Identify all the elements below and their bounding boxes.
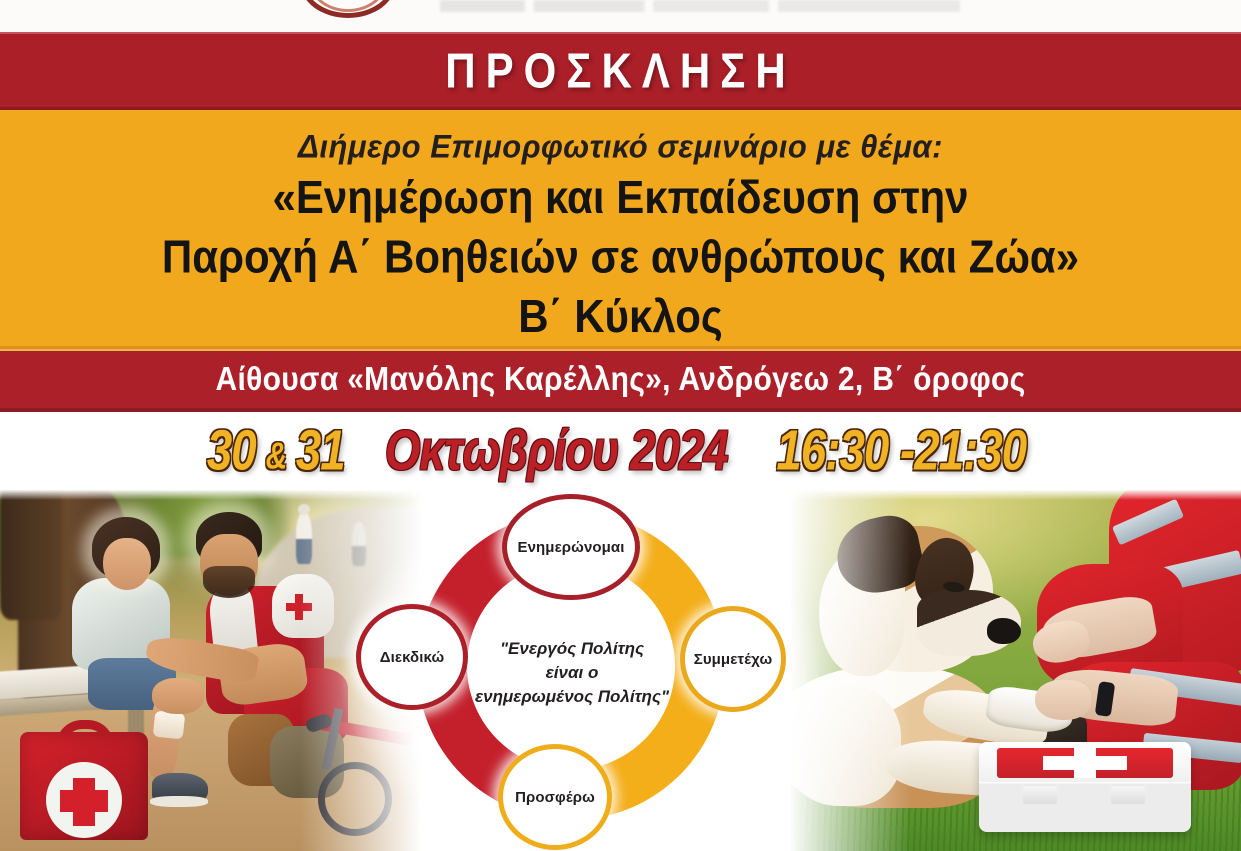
cycle-node-participate-label: Συμμετέχω <box>694 651 773 668</box>
photo-band: "Ενεργός Πολίτης είναι ο ενημερωμένος Πο… <box>0 490 1241 851</box>
seminar-subtitle: Διήμερο Επιμορφωτικό σεμινάριο με θέμα: <box>298 127 943 167</box>
seminar-title-line-1: «Ενημέρωση και Εκπαίδευση στην <box>162 168 1079 227</box>
logo-strip <box>0 0 1241 32</box>
medic-hand-lower-icon <box>1035 680 1091 720</box>
cycle-node-claim: Διεκδικώ <box>356 604 468 710</box>
background-walker-icon <box>296 512 312 564</box>
active-citizen-cycle-diagram: "Ενεργός Πολίτης είναι ο ενημερωμένος Πο… <box>356 494 786 851</box>
seminar-title-line-2: Παροχή Α΄ Βοηθειών σε ανθρώπους και Ζώα» <box>162 227 1079 286</box>
cycle-node-inform-label: Ενημερώνομαι <box>517 539 624 556</box>
title-banner: Διήμερο Επιμορφωτικό σεμινάριο με θέμα: … <box>0 110 1241 349</box>
volunteer-hand-icon <box>152 678 204 714</box>
cycle-node-offer: Προσφέρω <box>498 744 612 850</box>
photo-medic-treating-dog <box>791 490 1241 851</box>
cropped-organization-name-text <box>440 0 960 12</box>
invitation-label: ΠΡΟΣΚΛΗΣΗ <box>445 42 795 99</box>
date-day-30: 30 <box>207 419 256 484</box>
seminar-title: «Ενημέρωση και Εκπαίδευση στην Παροχή Α΄… <box>162 168 1079 345</box>
venue-address: Αίθουσα «Μανόλης Καρέλλης», Ανδρόγεω 2, … <box>216 361 1026 398</box>
tree-trunk-secondary-icon <box>0 490 62 620</box>
date-ampersand: & <box>266 435 287 478</box>
date-time-inline-group: 30 & 31 Οκτωβρίου 2024 16:30 -21:30 <box>205 423 1035 479</box>
first-aid-box-latch-icon <box>1023 786 1057 804</box>
child-sneaker-sole-icon <box>150 796 208 807</box>
date-time-row: 30 & 31 Οκτωβρίου 2024 16:30 -21:30 <box>0 412 1241 490</box>
cycle-node-participate: Συμμετέχω <box>680 606 786 712</box>
seminar-title-line-3: Β΄ Κύκλος <box>162 286 1079 345</box>
dog-nose-icon <box>987 618 1021 644</box>
cycle-node-claim-label: Διεκδικώ <box>380 649 445 666</box>
dog-chest-icon <box>791 686 901 806</box>
child-face-icon <box>103 538 151 590</box>
volunteer-beard-icon <box>203 566 255 598</box>
event-time-range: 16:30 -21:30 <box>777 419 1027 484</box>
background-walker-head-icon <box>298 504 310 515</box>
invitation-banner: ΠΡΟΣΚΛΗΣΗ <box>0 32 1241 110</box>
cycle-center-quote: "Ενεργός Πολίτης είναι ο ενημερωμένος Πο… <box>491 618 653 728</box>
red-cross-armband-icon <box>286 594 312 620</box>
child-knee-bandage-icon <box>153 711 186 740</box>
cycle-center-quote-line-2: είναι ο <box>546 661 599 685</box>
date-day-31: 31 <box>296 419 345 484</box>
date-month-year: Οκτωβρίου 2024 <box>385 419 728 484</box>
cycle-center-quote-line-1: "Ενεργός Πολίτης <box>500 637 644 661</box>
cycle-node-offer-label: Προσφέρω <box>515 789 595 806</box>
cycle-node-inform: Ενημερώνομαι <box>502 494 640 600</box>
poster-root: ΠΡΟΣΚΛΗΣΗ Διήμερο Επιμορφωτικό σεμινάριο… <box>0 0 1241 851</box>
venue-banner: Αίθουσα «Μανόλης Καρέλλης», Ανδρόγεω 2, … <box>0 349 1241 412</box>
cycle-center-quote-line-3: ενημερωμένος Πολίτης" <box>475 685 669 709</box>
first-aid-box-latch-secondary-icon <box>1111 786 1145 804</box>
